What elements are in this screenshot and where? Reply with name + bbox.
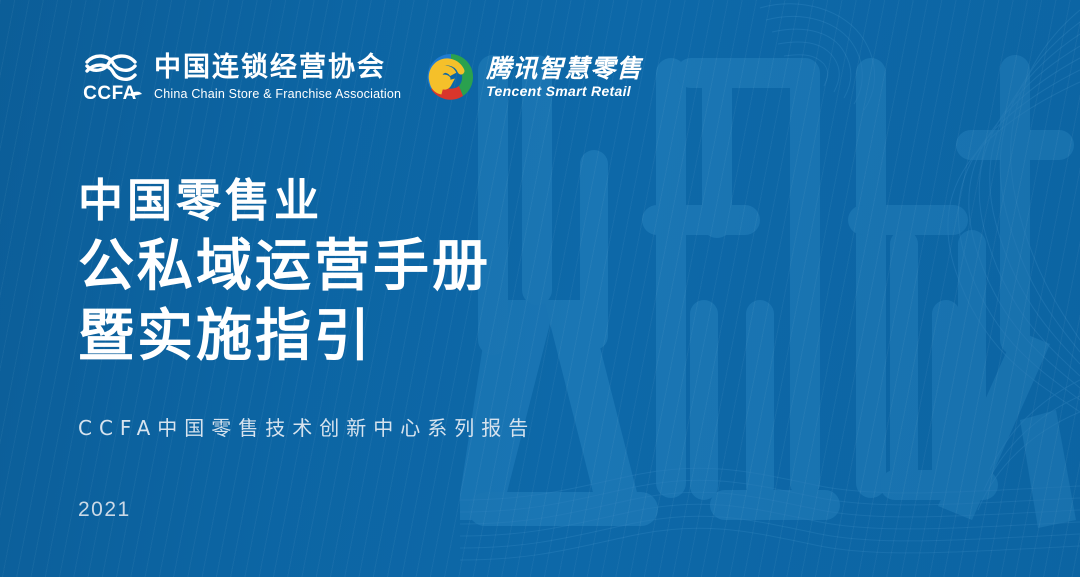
- logo-bar: CCFA 中国连锁经营协会 China Chain Store & Franch…: [78, 46, 642, 108]
- tencent-smart-retail-logo: 腾讯智慧零售 Tencent Smart Retail: [425, 46, 642, 108]
- title-line-1: 中国零售业: [78, 170, 638, 232]
- ccfa-name-cn: 中国连锁经营协会: [154, 52, 401, 83]
- ccfa-ribbon-icon: CCFA: [78, 48, 144, 106]
- ccfa-wordmark: 中国连锁经营协会 China Chain Store & Franchise A…: [154, 52, 401, 101]
- cover-year: 2021: [78, 498, 131, 522]
- tencent-smart-retail-spiral-icon: [425, 51, 477, 103]
- tencent-wordmark: 腾讯智慧零售 Tencent Smart Retail: [486, 55, 642, 100]
- report-cover: CCFA 中国连锁经营协会 China Chain Store & Franch…: [0, 0, 1080, 577]
- cover-title: 中国零售业 公私域运营手册 暨实施指引: [78, 170, 638, 372]
- ccfa-name-en: China Chain Store & Franchise Associatio…: [154, 87, 401, 102]
- tencent-name-cn: 腾讯智慧零售: [486, 55, 642, 83]
- cover-subtitle: CCFA中国零售技术创新中心系列报告: [78, 412, 535, 441]
- svg-text:CCFA: CCFA: [83, 83, 137, 104]
- title-line-2: 公私域运营手册: [78, 232, 638, 302]
- title-line-3: 暨实施指引: [78, 302, 638, 372]
- ccfa-logo: CCFA 中国连锁经营协会 China Chain Store & Franch…: [78, 46, 401, 108]
- tencent-name-en: Tencent Smart Retail: [486, 84, 642, 99]
